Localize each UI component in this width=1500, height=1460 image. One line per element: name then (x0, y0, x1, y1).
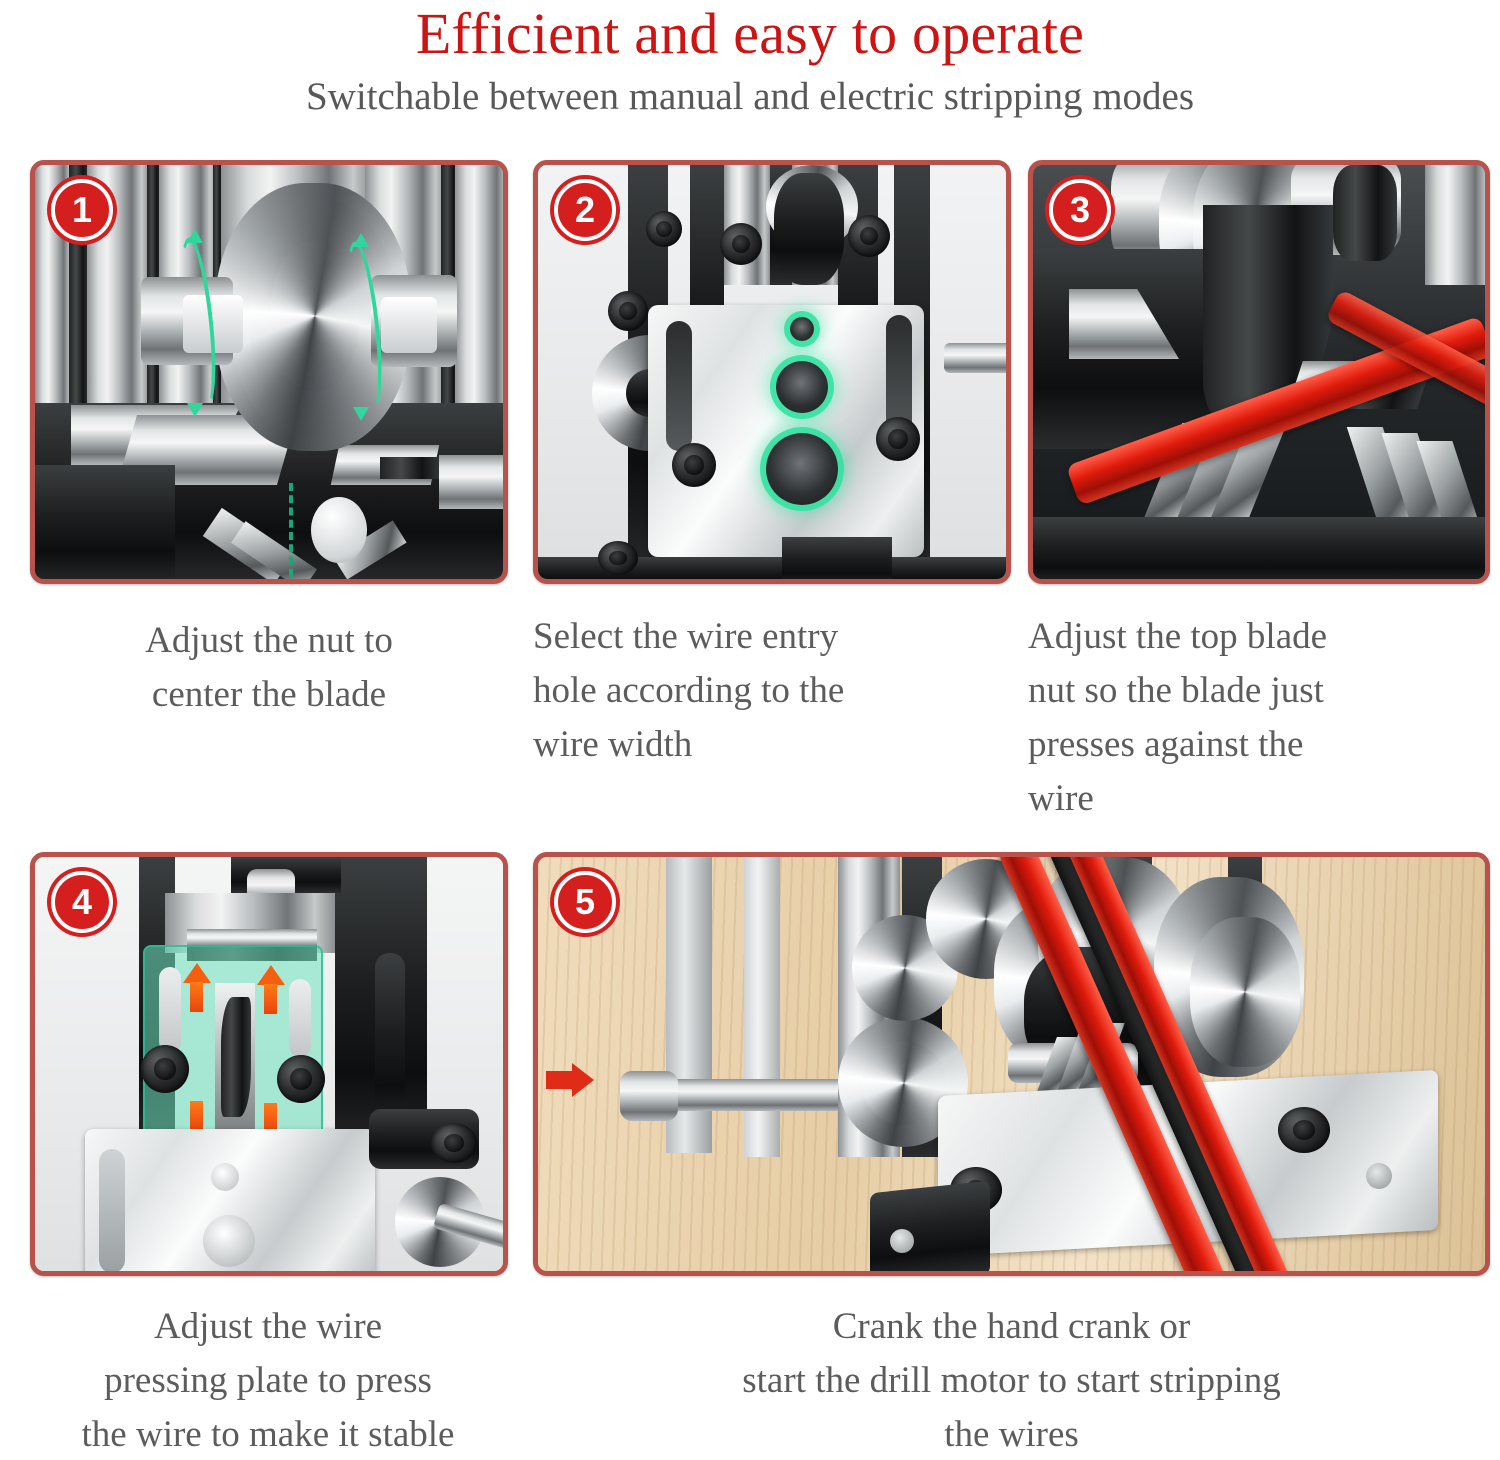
wire-entry-hole-large (766, 433, 838, 505)
wire-entry-hole-medium (776, 361, 828, 413)
step-card-2: 2 Select the wire entry hole according t… (533, 160, 1011, 772)
step-image-1: 1 (30, 160, 508, 584)
step-card-4: 4 Adjust the wire pressing plate to pres… (30, 852, 508, 1460)
step-image-2: 2 (533, 160, 1011, 584)
step-caption-4: Adjust the wire pressing plate to press … (8, 1300, 528, 1460)
wire-entry-hole-small (790, 317, 814, 341)
step-caption-5: Crank the hand crank or start the drill … (533, 1300, 1490, 1460)
infographic-page: Efficient and easy to operate Switchable… (0, 0, 1500, 1460)
step-number-badge-3: 3 (1049, 179, 1111, 241)
step-number-badge-5: 5 (554, 871, 616, 933)
step-caption-2: Select the wire entry hole according to … (533, 610, 1011, 772)
arrow-right-outer-icon (546, 1063, 594, 1097)
step-number-badge-4: 4 (51, 871, 113, 933)
scene-5 (538, 857, 1485, 1271)
step-image-5: 5 (533, 852, 1490, 1276)
step-card-1: 1 Adjust the nut to center the blade (30, 160, 508, 722)
step-card-3: 3 Adjust the top blade nut so the blade … (1028, 160, 1490, 826)
step-image-3: 3 (1028, 160, 1490, 584)
step-caption-3: Adjust the top blade nut so the blade ju… (1028, 610, 1490, 826)
step-caption-1: Adjust the nut to center the blade (30, 614, 508, 722)
step-number-badge-1: 1 (51, 179, 113, 241)
step-image-4: 4 (30, 852, 508, 1276)
steps-grid: 1 Adjust the nut to center the blade (0, 0, 1500, 1460)
step-card-5: 5 Crank the hand crank or start the dril… (533, 852, 1490, 1460)
step-number-badge-2: 2 (554, 179, 616, 241)
